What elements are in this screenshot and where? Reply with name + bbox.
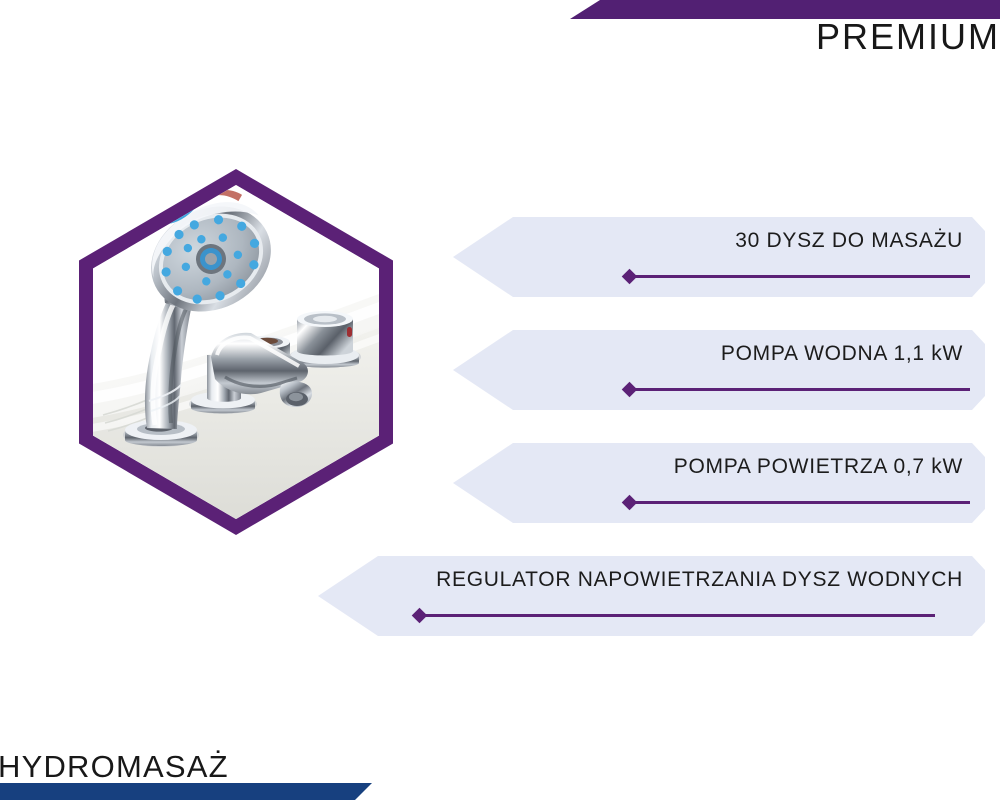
feature-label: POMPA WODNA 1,1 kW (721, 342, 963, 366)
feature-row: POMPA WODNA 1,1 kW (453, 330, 985, 410)
feature-underline (629, 275, 970, 278)
page-title-hydromasaz: HYDROMASAŻ (0, 750, 229, 784)
feature-label: REGULATOR NAPOWIETRZANIA DYSZ WODNYCH (436, 568, 963, 592)
feature-underline (629, 501, 970, 504)
feature-underline (419, 614, 935, 617)
feature-row: 30 DYSZ DO MASAŻU (453, 217, 985, 297)
feature-label: 30 DYSZ DO MASAŻU (735, 229, 963, 253)
slide-canvas: PREMIUM (0, 0, 1000, 800)
page-title-premium: PREMIUM (816, 17, 1000, 57)
feature-label: POMPA POWIETRZA 0,7 kW (674, 455, 963, 479)
bottom-blue-banner (0, 783, 372, 800)
feature-row: POMPA POWIETRZA 0,7 kW (453, 443, 985, 523)
feature-row: REGULATOR NAPOWIETRZANIA DYSZ WODNYCH (318, 556, 985, 636)
feature-underline (629, 388, 970, 391)
product-hexagon (79, 169, 393, 535)
